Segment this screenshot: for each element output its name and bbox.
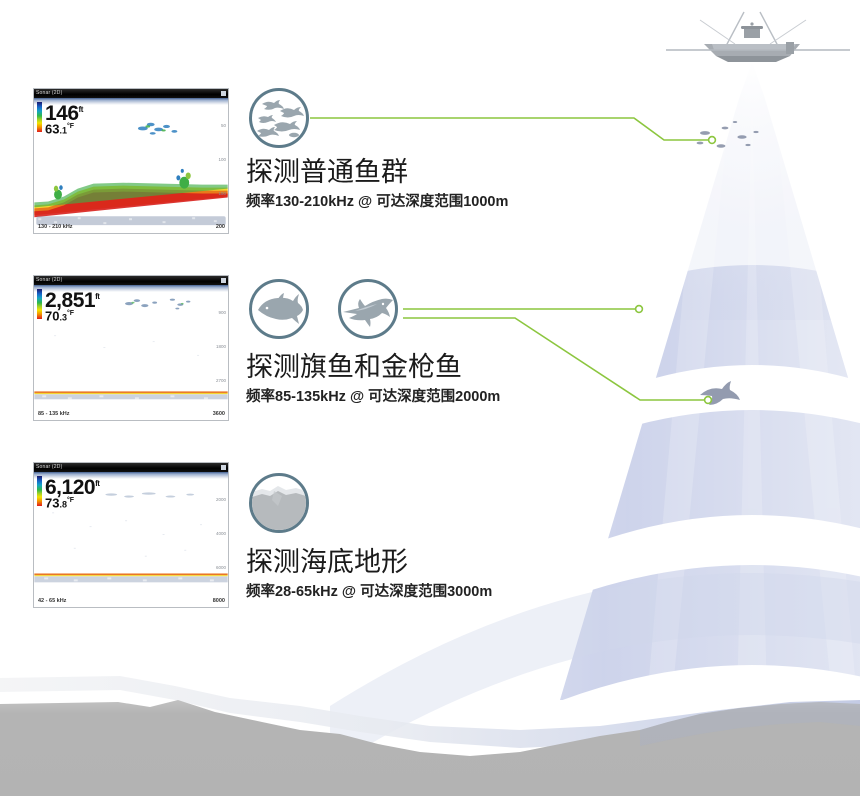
feature-subtitle: 频率28-65kHz @ 可达深度范围3000m <box>246 582 492 602</box>
sonar-color-scale <box>37 289 42 319</box>
sonar-panel-billfish[interactable]: Sonar (2D) <box>33 275 229 421</box>
sonar-panel-common-fish[interactable]: Sonar (2D) <box>33 88 229 234</box>
sonar-frequency-label: 42 - 65 kHz <box>38 598 66 604</box>
seafloor-ridge-shadow <box>640 702 860 746</box>
feature-title: 探测普通鱼群 <box>246 156 508 188</box>
feature-title: 探测旗鱼和金枪鱼 <box>246 351 500 383</box>
sonar-depth-scale: 2000 4000 6000 <box>204 479 228 597</box>
beam-deep <box>470 60 860 760</box>
sonar-panel-seafloor[interactable]: Sonar (2D) <box>33 462 229 608</box>
sonar-color-scale <box>37 476 42 506</box>
connector-endpoint-1 <box>709 137 716 144</box>
sonar-depth-scale: 50 100 150 <box>204 105 228 223</box>
depth-unit: ft <box>79 105 83 114</box>
feature-text-seafloor: 探测海底地形 频率28-65kHz @ 可达深度范围3000m <box>246 546 492 602</box>
connector-endpoint-3 <box>705 397 712 404</box>
sonar-range-label: 8000 <box>213 598 225 604</box>
beam-striations <box>640 100 860 780</box>
seabed-terrain-icon[interactable] <box>249 473 309 533</box>
sonar-depth-scale: 900 1800 2700 <box>204 292 228 410</box>
infographic-canvas: Sonar (2D) <box>0 0 860 796</box>
fish-school-icon[interactable] <box>249 88 309 148</box>
beam-cone-top <box>660 62 844 320</box>
feature-text-billfish: 探测旗鱼和金枪鱼 频率85-135kHz @ 可达深度范围2000m <box>246 351 500 407</box>
seafloor-terrain <box>0 700 860 796</box>
marlin-icon[interactable] <box>338 279 398 339</box>
sonar-range-label: 200 <box>216 224 225 230</box>
beam-wash <box>330 573 860 768</box>
feature-text-common-fish: 探测普通鱼群 频率130-210kHz @ 可达深度范围1000m <box>246 156 508 212</box>
tuna-icon[interactable] <box>249 279 309 339</box>
connector-endpoint-2 <box>636 306 643 313</box>
feature-subtitle: 频率130-210kHz @ 可达深度范围1000m <box>246 192 508 212</box>
beam-band-2 <box>440 410 860 625</box>
seafloor-shelf-highlight <box>0 676 860 748</box>
sonar-range-label: 3600 <box>213 411 225 417</box>
fish-school-marker <box>697 121 759 148</box>
billfish-marker <box>700 381 740 405</box>
sonar-frequency-label: 85 - 135 kHz <box>38 411 70 417</box>
feature-subtitle: 频率85-135kHz @ 可达深度范围2000m <box>246 387 500 407</box>
depth-unit: ft <box>95 292 99 301</box>
beam-band-1 <box>520 265 860 440</box>
feature-title: 探测海底地形 <box>246 546 492 578</box>
sonar-frequency-label: 130 - 210 kHz <box>38 224 73 230</box>
sonar-color-scale <box>37 102 42 132</box>
sonar-temp-readout: 63.1°F <box>45 120 74 137</box>
connector-row1 <box>310 118 710 140</box>
depth-unit: ft <box>95 479 99 488</box>
sonar-temp-readout: 70.3°F <box>45 307 74 324</box>
sport-fishing-boat <box>666 12 850 62</box>
sonar-temp-readout: 73.8°F <box>45 494 74 511</box>
